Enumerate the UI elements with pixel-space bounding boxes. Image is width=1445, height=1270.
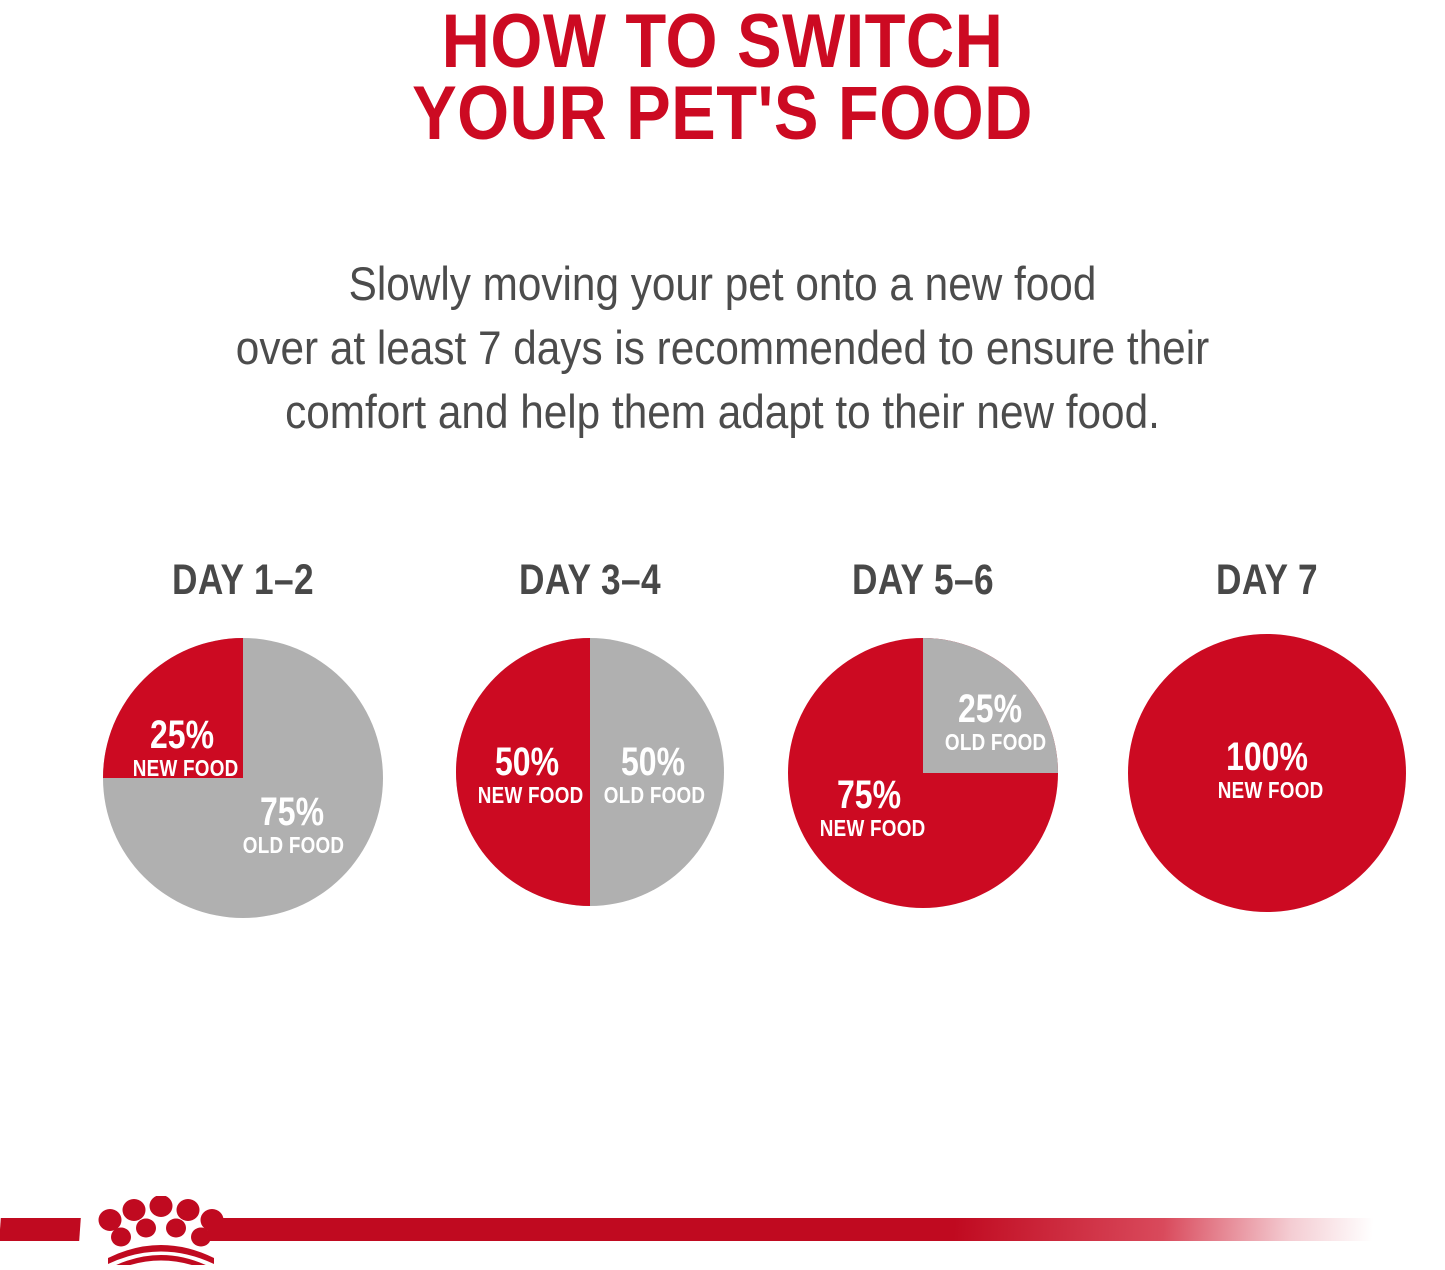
title-line-1: HOW TO SWITCH	[87, 6, 1359, 78]
pie-slice-new-food	[103, 638, 243, 778]
pie-slice-new-food	[456, 638, 590, 906]
page-title: HOW TO SWITCH YOUR PET'S FOOD	[0, 6, 1445, 150]
pie-chart-day-7: 100% NEW FOOD	[1127, 633, 1407, 913]
pie-chart-day-5-6: 25% OLD FOOD 75% NEW FOOD	[787, 637, 1059, 909]
subtitle-line-1: Slowly moving your pet onto a new food	[72, 252, 1373, 316]
subtitle-line-3: comfort and help them adapt to their new…	[72, 380, 1373, 444]
day-label-2: DAY 3–4	[467, 556, 713, 604]
pie-chart-day-3-4: 50% NEW FOOD 50% OLD FOOD	[455, 637, 725, 907]
day-label-1: DAY 1–2	[120, 556, 366, 604]
royal-canin-crown-icon	[96, 1196, 226, 1265]
pie-group-day-3-4: DAY 3–4 50% NEW FOOD 50% OLD FOOD	[440, 556, 740, 907]
footer-bar-left	[0, 1218, 81, 1241]
pie-group-day-5-6: DAY 5–6 25% OLD FOOD 75% NEW FOOD	[773, 556, 1073, 909]
day-label-3: DAY 5–6	[800, 556, 1046, 604]
title-line-2: YOUR PET'S FOOD	[87, 78, 1359, 150]
pie-group-day-1-2: DAY 1–2 25% NEW FOOD 75% OLD FOOD	[93, 556, 393, 919]
pie-slice-old-food	[923, 638, 1058, 773]
footer	[0, 1196, 1445, 1265]
pie-chart-row: DAY 1–2 25% NEW FOOD 75% OLD FOOD DAY 3–…	[0, 556, 1445, 956]
footer-bar-right	[207, 1218, 1374, 1241]
pie-group-day-7: DAY 7 100% NEW FOOD	[1117, 556, 1417, 913]
subtitle-line-2: over at least 7 days is recommended to e…	[72, 316, 1373, 380]
day-label-4: DAY 7	[1144, 556, 1390, 604]
subtitle-paragraph: Slowly moving your pet onto a new food o…	[0, 252, 1445, 444]
pie-chart-day-1-2: 25% NEW FOOD 75% OLD FOOD	[102, 637, 384, 919]
pie-slice-new-food	[1128, 634, 1406, 912]
